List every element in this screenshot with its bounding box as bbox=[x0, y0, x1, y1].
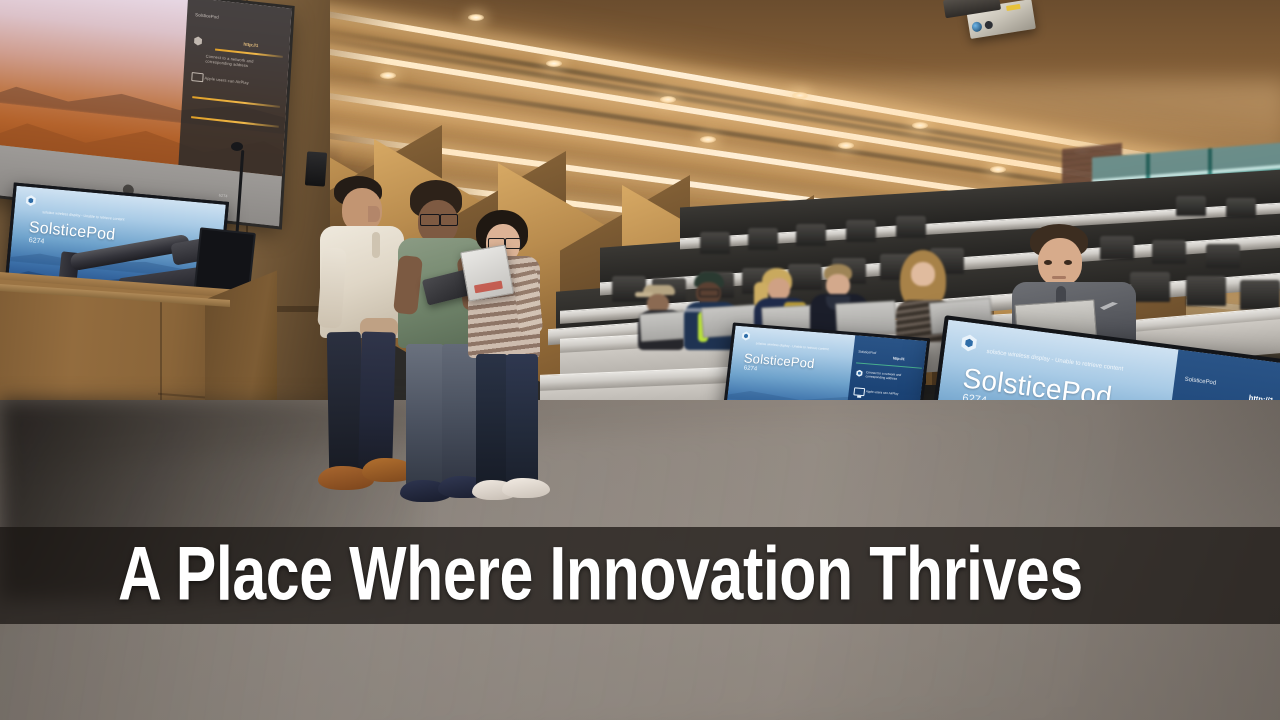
solstice-hex-icon bbox=[856, 369, 864, 377]
ceiling-downlight bbox=[380, 72, 396, 79]
caption-band: A Place Where Innovation Thrives bbox=[0, 527, 1280, 624]
face-profile bbox=[368, 206, 380, 222]
wall-speaker bbox=[305, 151, 327, 186]
solstice-hex-icon bbox=[25, 195, 37, 207]
projection-rule bbox=[191, 116, 279, 127]
middle-status-text: solstice wireless display - Unable to re… bbox=[755, 341, 828, 351]
monitor-airplay-icon bbox=[191, 72, 203, 82]
page-title: A Place Where Innovation Thrives bbox=[118, 536, 1083, 612]
solstice-hex-icon bbox=[193, 36, 202, 46]
middle-instruction-1: Connect to a network and corresponding a… bbox=[865, 370, 920, 382]
auditorium-seat bbox=[1152, 240, 1186, 264]
microphone-capsule bbox=[231, 142, 243, 151]
middle-instruction-2: Apple users can AirPlay bbox=[866, 389, 918, 397]
solstice-hex-icon bbox=[741, 331, 751, 341]
shoe bbox=[502, 478, 550, 498]
middle-pod-key: 6274 bbox=[743, 365, 757, 372]
right-sidebar-heading: SolsticePod bbox=[1184, 377, 1216, 387]
held-laptop bbox=[460, 244, 514, 301]
lecture-hall-photo: SolsticePod http://1 Connect to a networ… bbox=[0, 0, 1280, 720]
solstice-hex-icon bbox=[960, 333, 979, 352]
auditorium-seat bbox=[612, 276, 646, 302]
projection-rule bbox=[192, 96, 280, 107]
middle-rule bbox=[856, 362, 922, 368]
auditorium-seat bbox=[1176, 196, 1206, 216]
auditorium-seat bbox=[1186, 276, 1226, 306]
auditorium-seat bbox=[1130, 272, 1170, 302]
monitor-airplay-icon bbox=[853, 387, 865, 396]
eye bbox=[1064, 260, 1072, 265]
projector-lens-icon bbox=[984, 20, 993, 29]
auditorium-seat bbox=[896, 216, 926, 238]
left-pod-key: 6274 bbox=[28, 237, 44, 245]
ceiling-downlight bbox=[546, 60, 562, 67]
screen-corner-label: 6274 bbox=[219, 193, 228, 199]
auditorium-seat bbox=[748, 228, 778, 250]
projector-indicator bbox=[1006, 4, 1021, 11]
auditorium-seat bbox=[1206, 244, 1240, 268]
projection-url: http://1 bbox=[243, 42, 258, 49]
projection-pod-heading: SolsticePod bbox=[195, 12, 219, 20]
auditorium-seat bbox=[1226, 198, 1256, 218]
quarter-zip-placket bbox=[372, 232, 380, 258]
auditorium-seat bbox=[846, 220, 876, 242]
projection-instruction-2: Apple users can AirPlay bbox=[204, 75, 278, 89]
left-status-text: solstice wireless display - Unable to re… bbox=[42, 210, 125, 221]
middle-sidebar-heading: SolsticePod bbox=[858, 350, 876, 355]
laptop-sticker bbox=[474, 281, 503, 294]
auditorium-seat bbox=[788, 264, 822, 290]
auditorium-seat bbox=[1240, 280, 1280, 310]
auditorium-seat bbox=[796, 224, 826, 246]
auditorium-seat bbox=[1100, 236, 1134, 260]
mouth bbox=[1052, 276, 1066, 279]
middle-sidebar-url: http://1 bbox=[893, 356, 905, 361]
auditorium-seat bbox=[700, 232, 730, 254]
projection-instruction-1: Connect to a network and corresponding a… bbox=[205, 53, 279, 72]
projector-lens-icon bbox=[971, 21, 982, 32]
eye bbox=[1044, 260, 1052, 265]
ceiling-downlight bbox=[468, 14, 484, 21]
